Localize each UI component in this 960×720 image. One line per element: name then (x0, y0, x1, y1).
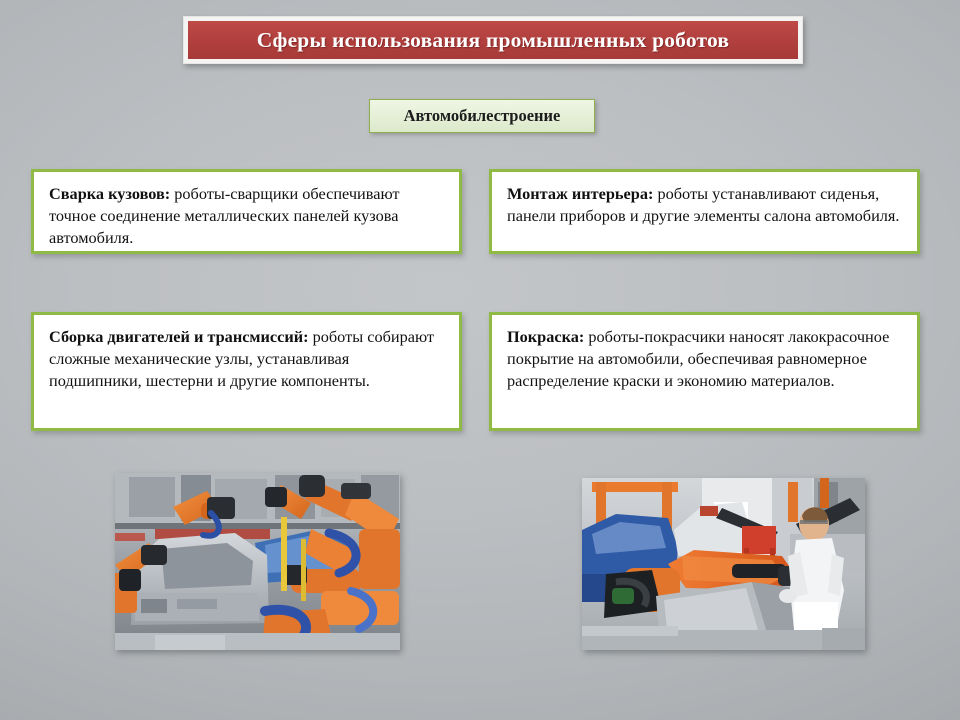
content-box-heading: Сварка кузовов: (49, 184, 170, 203)
welding-line-illustration (115, 473, 400, 650)
slide-canvas: Сферы использования промышленных роботов… (0, 0, 960, 720)
slide-title-fill: Сферы использования промышленных роботов (188, 21, 798, 59)
content-box-heading: Сборка двигателей и трансмиссий: (49, 327, 309, 346)
section-subtitle-box: Автомобилестроение (369, 99, 595, 133)
content-box-interior: Монтаж интерьера: роботы устанавливают с… (489, 169, 920, 254)
content-box-text: Монтаж интерьера: роботы устанавливают с… (507, 183, 904, 227)
section-subtitle-label: Автомобилестроение (404, 106, 561, 126)
content-box-text: Покраска: роботы-покрасчики наносят лако… (507, 326, 904, 391)
content-box-painting: Покраска: роботы-покрасчики наносят лако… (489, 312, 920, 431)
photo-welding-line (115, 473, 400, 650)
content-box-heading: Монтаж интерьера: (507, 184, 653, 203)
content-box-welding: Сварка кузовов: роботы-сварщики обеспечи… (31, 169, 462, 254)
page-title: Сферы использования промышленных роботов (257, 28, 729, 53)
content-box-heading: Покраска: (507, 327, 584, 346)
assembly-robot-illustration (582, 478, 865, 650)
photo-assembly-robot (582, 478, 865, 650)
content-box-text: Сварка кузовов: роботы-сварщики обеспечи… (49, 183, 446, 248)
content-box-engine-assembly: Сборка двигателей и трансмиссий: роботы … (31, 312, 462, 431)
content-box-text: Сборка двигателей и трансмиссий: роботы … (49, 326, 446, 391)
slide-title-banner: Сферы использования промышленных роботов (183, 16, 803, 64)
